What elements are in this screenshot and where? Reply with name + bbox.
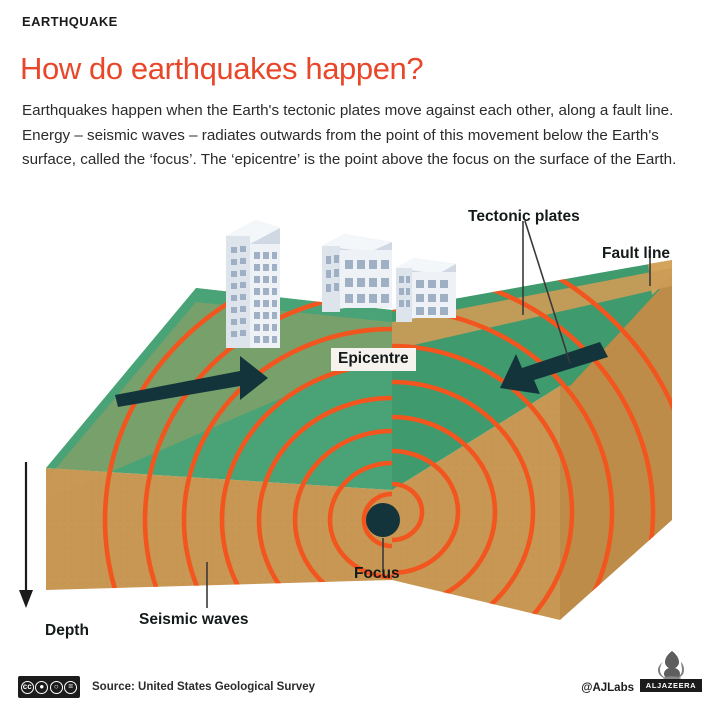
cc-nd-icon: = — [64, 681, 77, 694]
label-tectonic-plates: Tectonic plates — [468, 208, 580, 226]
aljazeera-logo-icon — [650, 650, 694, 680]
cc-nc-icon: ○ — [50, 681, 63, 694]
focus-point — [366, 503, 400, 537]
cc-icon: cc — [21, 681, 34, 694]
page-title: How do earthquakes happen? — [20, 51, 423, 87]
aljazeera-wordmark: ALJAZEERA — [640, 679, 702, 692]
kicker: EARTHQUAKE — [22, 14, 118, 29]
label-depth: Depth — [45, 622, 89, 640]
label-epicentre: Epicentre — [331, 348, 416, 371]
depth-arrow — [19, 462, 33, 608]
label-focus: Focus — [354, 565, 400, 583]
infographic-page: EARTHQUAKE How do earthquakes happen? Ea… — [0, 0, 720, 718]
aj-labs-handle: @AJLabs — [581, 682, 634, 694]
label-fault-line: Fault line — [602, 245, 670, 263]
building-block-mid — [322, 234, 392, 312]
creative-commons-badge: cc ● ○ = — [18, 676, 80, 698]
building-tower-tall — [226, 220, 280, 348]
source-credit: Source: United States Geological Survey — [92, 681, 315, 693]
standfirst: Earthquakes happen when the Earth's tect… — [22, 99, 694, 173]
cc-by-icon: ● — [35, 681, 48, 694]
label-seismic-waves: Seismic waves — [139, 611, 248, 629]
building-block-short — [396, 258, 456, 322]
